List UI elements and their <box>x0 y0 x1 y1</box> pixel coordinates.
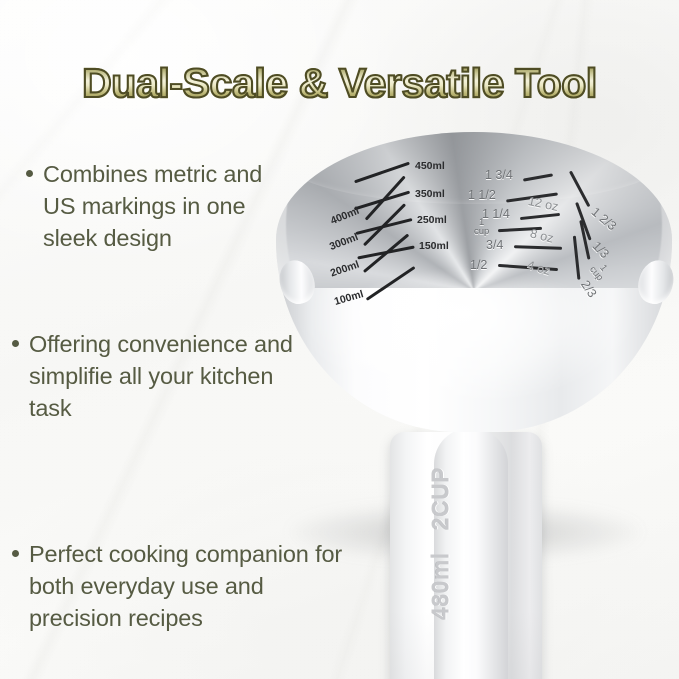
page-title: Dual-Scale & Versatile Tool <box>0 63 679 104</box>
list-item-label: Combines metric and US markings in one s… <box>43 158 294 254</box>
handle-us-capacity: 2CUP <box>428 467 454 530</box>
product-marketing-image: Dual-Scale & Versatile Tool Combines met… <box>0 0 679 679</box>
list-item: Combines metric and US markings in one s… <box>26 158 294 254</box>
list-item-label: Offering convenience and simplifie all y… <box>29 328 300 424</box>
handle-metric-capacity: 480ml <box>428 552 454 620</box>
bullet-dot-icon <box>12 550 19 557</box>
list-item: Offering convenience and simplifie all y… <box>12 328 300 424</box>
handle-capacity-label: 480ml2CUP <box>428 449 455 639</box>
bullet-dot-icon <box>26 170 33 177</box>
cup-bowl <box>276 132 672 432</box>
page-title-text: Dual-Scale & Versatile Tool <box>82 60 597 106</box>
product-image-measuring-cup: 480ml2CUP <box>268 132 679 632</box>
bowl-outer-front <box>276 288 672 432</box>
cup-handle: 480ml2CUP <box>390 432 542 679</box>
bullet-dot-icon <box>12 340 19 347</box>
